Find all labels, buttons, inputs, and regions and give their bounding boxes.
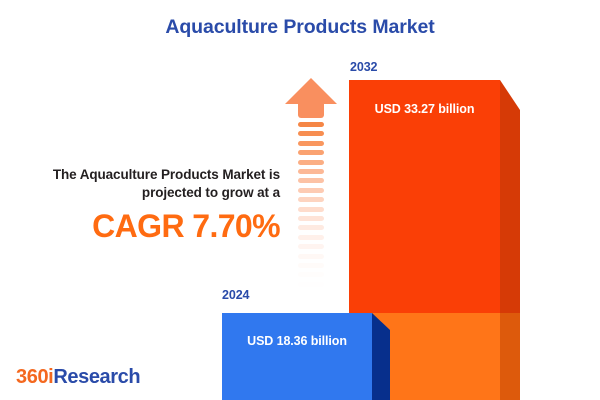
cagr-value: CAGR 7.70% [8, 208, 280, 244]
arrow-segment [298, 169, 324, 174]
bar-2024-value-label: USD 18.36 billion [222, 334, 372, 348]
page-title: Aquaculture Products Market [0, 16, 600, 39]
arrow-segment [298, 131, 324, 136]
arrow-segment [298, 263, 324, 268]
arrow-segment [298, 197, 324, 202]
arrow-head-icon [285, 78, 337, 104]
bar-2032-value-label: USD 33.27 billion [349, 102, 500, 116]
caption-line-2: projected to grow at a [8, 184, 280, 202]
arrow-segment [298, 160, 324, 165]
growth-arrow-icon [285, 78, 337, 290]
arrow-segment [298, 122, 324, 127]
brand-logo: 360iResearch [16, 366, 140, 389]
arrow-segment [298, 225, 324, 230]
arrow-segment [298, 244, 324, 249]
arrow-segment [298, 282, 324, 287]
brand-logo-research: Research [53, 366, 140, 388]
arrow-segment [298, 188, 324, 193]
caption-block: The Aquaculture Products Market is proje… [8, 166, 280, 244]
arrow-segment [298, 178, 324, 183]
arrow-segment [298, 272, 324, 277]
bar-2024: USD 18.36 billion [222, 313, 390, 400]
bar-2024-side [372, 313, 390, 400]
brand-logo-360i: 360i [16, 366, 53, 388]
year-label-2032: 2032 [350, 60, 377, 74]
bar-2024-face [222, 313, 372, 400]
year-label-2024: 2024 [222, 288, 249, 302]
bar-2032-side-lower [500, 313, 520, 400]
arrow-neck-icon [298, 104, 324, 118]
arrow-segment [298, 235, 324, 240]
arrow-segment [298, 141, 324, 146]
arrow-segment [298, 254, 324, 259]
bar-2032-side-upper [500, 80, 520, 313]
caption-line-1: The Aquaculture Products Market is [8, 166, 280, 184]
arrow-segment [298, 207, 324, 212]
arrow-segment [298, 216, 324, 221]
infographic-canvas: Aquaculture Products Market The Aquacult… [0, 0, 600, 400]
arrow-segment [298, 150, 324, 155]
